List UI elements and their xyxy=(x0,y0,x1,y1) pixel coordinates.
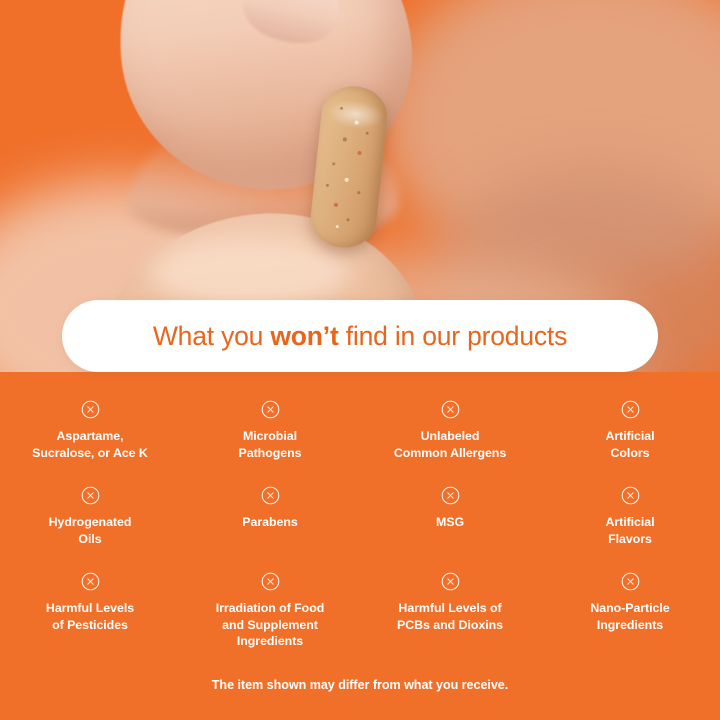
excluded-item: Aspartame, Sucralose, or Ace K xyxy=(0,386,180,472)
excluded-item: Nano-Particle Ingredients xyxy=(540,558,720,644)
circle-x-icon xyxy=(261,572,280,591)
tablet-speck xyxy=(340,107,343,110)
circle-x-icon xyxy=(441,572,460,591)
tablet-speck xyxy=(357,191,360,194)
excluded-item-label: Microbial Pathogens xyxy=(239,428,302,461)
tablet-speck xyxy=(357,151,361,155)
excluded-item: Artificial Colors xyxy=(540,386,720,472)
excluded-item-label: Artificial Colors xyxy=(605,428,654,461)
circle-x-icon xyxy=(261,486,280,505)
excluded-item: Harmful Levels of PCBs and Dioxins xyxy=(360,558,540,644)
tablet-speck xyxy=(332,162,335,165)
excluded-item-label: Aspartame, Sucralose, or Ace K xyxy=(32,428,148,461)
excluded-item: Hydrogenated Oils xyxy=(0,472,180,558)
tablet-speck xyxy=(334,203,338,207)
circle-x-icon xyxy=(621,400,640,419)
circle-x-icon xyxy=(81,572,100,591)
tablet-speck xyxy=(365,132,368,135)
circle-x-icon xyxy=(621,572,640,591)
excluded-item-label: Harmful Levels of PCBs and Dioxins xyxy=(397,600,503,633)
tablet-speck xyxy=(343,137,347,141)
headline-banner: What you won’t find in our products xyxy=(62,300,658,372)
excluded-item-label: Nano-Particle Ingredients xyxy=(590,600,669,633)
circle-x-icon xyxy=(81,400,100,419)
circle-x-icon xyxy=(261,400,280,419)
excluded-item: Artificial Flavors xyxy=(540,472,720,558)
excluded-item-label: Parabens xyxy=(242,514,297,531)
excluded-item-label: Artificial Flavors xyxy=(605,514,654,547)
circle-x-icon xyxy=(441,400,460,419)
excluded-item-label: Harmful Levels of Pesticides xyxy=(46,600,134,633)
excluded-item-label: Hydrogenated Oils xyxy=(49,514,132,547)
tablet-speck xyxy=(344,178,348,182)
excluded-item: Unlabeled Common Allergens xyxy=(360,386,540,472)
circle-x-icon xyxy=(621,486,640,505)
excluded-item: Microbial Pathogens xyxy=(180,386,360,472)
headline-text: What you won’t find in our products xyxy=(153,321,567,352)
circle-x-icon xyxy=(441,486,460,505)
excluded-items-grid: Aspartame, Sucralose, or Ace K Microbial… xyxy=(0,386,720,644)
circle-x-icon xyxy=(81,486,100,505)
excluded-item-label: Unlabeled Common Allergens xyxy=(394,428,506,461)
excluded-item: MSG xyxy=(360,472,540,558)
excluded-item-label: Irradiation of Food and Supplement Ingre… xyxy=(216,600,325,650)
tablet-speck xyxy=(354,120,358,124)
tablet-speck xyxy=(326,184,329,187)
excluded-item: Parabens xyxy=(180,472,360,558)
excluded-item: Irradiation of Food and Supplement Ingre… xyxy=(180,558,360,644)
index-finger-highlight xyxy=(150,238,350,308)
tablet-speck xyxy=(346,218,349,221)
headline-prefix: What you xyxy=(153,321,271,351)
excluded-item: Harmful Levels of Pesticides xyxy=(0,558,180,644)
excluded-item-label: MSG xyxy=(436,514,464,531)
disclaimer-text: The item shown may differ from what you … xyxy=(0,678,720,692)
tablet-speck xyxy=(336,225,339,228)
headline-emphasis: won’t xyxy=(270,321,338,351)
headline-suffix: find in our products xyxy=(339,321,568,351)
product-claims-image: What you won’t find in our products Aspa… xyxy=(0,0,720,720)
